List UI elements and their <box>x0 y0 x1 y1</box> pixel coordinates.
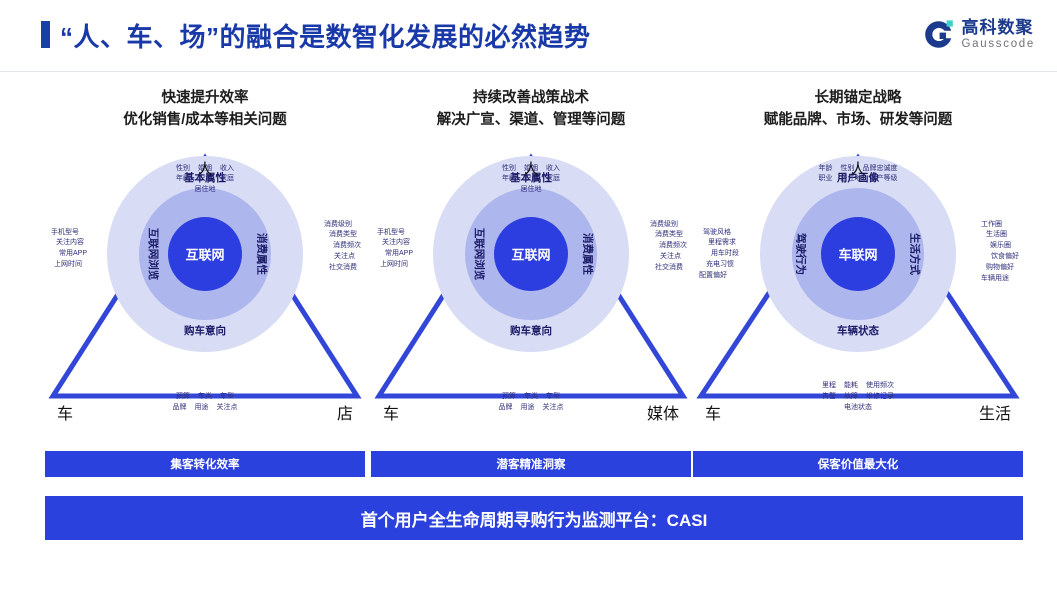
satellite-row: 预算 车类 车型 <box>499 392 564 403</box>
satellite-label: 家庭 <box>546 174 560 185</box>
satellite-row: 预算 车类 车型 <box>173 392 238 403</box>
corner-label-right: 媒体 <box>647 400 679 424</box>
satellite-label: 消费级别 <box>324 220 361 231</box>
satellite-group-right: 消费级别 消费类型 消费频次 关注点 社交消费 <box>324 220 361 274</box>
column-3-triangle-diagram: 人 车 生活 车联网 用户画像 车辆状态 驾驶行为 生活方式 年龄 性别 <box>693 142 1023 428</box>
satellite-label: 品牌忠诚度 <box>863 164 898 175</box>
satellite-label: 消费类型 <box>329 230 361 241</box>
ring-label-right: 生活方式 <box>908 233 923 275</box>
ring-label-right: 消费属性 <box>255 233 270 275</box>
satellite-group-left: 手机型号 关注内容 常用APP 上网时间 <box>51 228 87 271</box>
satellite-row: 里程 能耗 使用频次 <box>822 381 894 392</box>
column-2-heading: 持续改善战策战术 解决广宣、渠道、管理等问题 <box>371 88 691 132</box>
column-1-heading: 快速提升效率 优化销售/成本等相关问题 <box>45 88 365 132</box>
satellite-row: 告警 故障 维修记录 <box>822 392 894 403</box>
satellite-label: 常用APP <box>51 249 87 260</box>
satellite-label: 职业 <box>819 174 833 185</box>
satellite-label: 关注点 <box>334 252 361 263</box>
satellite-label: 社交消费 <box>329 263 361 274</box>
satellite-label: 生活圈 <box>986 230 1019 241</box>
satellite-label: 预算 <box>176 392 190 403</box>
outcome-bar-2: 潜客精准洞察 <box>371 451 691 477</box>
satellite-label: 居住地 <box>195 185 216 196</box>
satellite-label: 资产等级 <box>870 174 898 185</box>
satellite-label: 消费类型 <box>655 230 687 241</box>
header-divider <box>0 71 1057 72</box>
column-1: 快速提升效率 优化销售/成本等相关问题 人 车 店 互联网 基本属性 购车意向 … <box>45 88 365 428</box>
satellite-label: 驾驶风格 <box>699 228 731 239</box>
ring-core-label: 互联网 <box>511 244 550 263</box>
satellite-label: 消费级别 <box>650 220 687 231</box>
satellite-label: 消费频次 <box>659 241 687 252</box>
apex-label: 人 <box>523 158 538 179</box>
satellite-group-bottom: 预算 车类 车型 品牌 用途 关注点 <box>173 392 238 414</box>
satellite-group-left: 驾驶风格 里程需求 用车时段 充电习惯 配置偏好 <box>699 228 739 282</box>
logo-text-cn: 高科数聚 <box>962 19 1035 36</box>
satellite-group-right: 消费级别 消费类型 消费频次 关注点 社交消费 <box>650 220 687 274</box>
satellite-label: 关注点 <box>543 403 564 414</box>
satellite-label: 维修记录 <box>866 392 894 403</box>
satellite-label: 手机型号 <box>51 228 79 239</box>
ring-label-right: 消费属性 <box>581 233 596 275</box>
corner-label-left: 车 <box>705 400 721 424</box>
satellite-label: 购物偏好 <box>986 263 1019 274</box>
ring-label-bottom: 车辆状态 <box>837 323 879 338</box>
satellite-label: 故障 <box>844 392 858 403</box>
ring-core-label: 互联网 <box>185 244 224 263</box>
satellite-label: 工作圈 <box>981 220 1019 231</box>
satellite-label: 车类 <box>524 392 538 403</box>
satellite-label: 品牌 <box>499 403 513 414</box>
gausscode-g-logo-icon <box>922 18 955 51</box>
ring-label-bottom: 购车意向 <box>510 323 552 338</box>
heading-line-2: 赋能品牌、市场、研发等问题 <box>693 110 1023 132</box>
satellite-row: 居住地 <box>502 185 560 196</box>
satellite-row: 品牌 用途 关注点 <box>173 403 238 414</box>
satellite-label: 配置偏好 <box>699 271 727 282</box>
satellite-label: 年龄 <box>176 174 190 185</box>
satellite-label: 消费频次 <box>333 241 361 252</box>
satellite-row: 电池状态 <box>822 403 894 414</box>
satellite-label: 使用频次 <box>866 381 894 392</box>
satellite-label: 车类 <box>198 392 212 403</box>
satellite-label: 家庭 <box>220 174 234 185</box>
title-bullet-icon <box>41 21 50 48</box>
brand-logo: 高科数聚 Gausscode <box>922 18 1035 51</box>
logo-text-en: Gausscode <box>962 39 1035 51</box>
column-2: 持续改善战策战术 解决广宣、渠道、管理等问题 人 车 媒体 互联网 基本属性 购… <box>371 88 691 428</box>
satellite-label: 车型 <box>220 392 234 403</box>
ring-core-label: 车联网 <box>838 244 877 263</box>
satellite-label: 上网时间 <box>377 260 408 271</box>
satellite-label: 常用APP <box>377 249 413 260</box>
heading-line-2: 解决广宣、渠道、管理等问题 <box>371 110 691 132</box>
heading-line-1: 快速提升效率 <box>45 88 365 110</box>
satellite-label: 车型 <box>546 392 560 403</box>
corner-label-left: 车 <box>57 400 73 424</box>
heading-line-1: 持续改善战策战术 <box>371 88 691 110</box>
satellite-label: 品牌 <box>173 403 187 414</box>
satellite-label: 居住地 <box>521 185 542 196</box>
satellite-label: 上网时间 <box>51 260 82 271</box>
corner-label-left: 车 <box>383 400 399 424</box>
platform-footer-bar: 首个用户全生命周期寻购行为监测平台：CASI <box>45 496 1023 540</box>
satellite-label: 社交消费 <box>655 263 687 274</box>
satellite-group-right: 工作圈 生活圈 娱乐圈 饮食偏好 购物偏好 车辆用途 <box>981 220 1019 285</box>
ring-label-bottom: 购车意向 <box>184 323 226 338</box>
heading-line-1: 长期锚定战略 <box>693 88 1023 110</box>
satellite-label: 娱乐圈 <box>990 241 1019 252</box>
slide-header: “人、车、场”的融合是数智化发展的必然趋势 高科数聚 Gausscode <box>0 0 1057 72</box>
satellite-label: 性别 <box>502 164 516 175</box>
satellite-label: 里程 <box>822 381 836 392</box>
corner-label-right: 生活 <box>979 400 1011 424</box>
corner-label-right: 店 <box>337 400 353 424</box>
satellite-label: 年龄 <box>819 164 833 175</box>
satellite-label: 用车时段 <box>699 249 739 260</box>
satellite-label: 收入 <box>546 164 560 175</box>
satellite-group-bottom: 里程 能耗 使用频次 告警 故障 维修记录 电池状态 <box>822 381 894 414</box>
satellite-label: 车辆用途 <box>981 274 1019 285</box>
outcome-bar-1: 集客转化效率 <box>45 451 365 477</box>
outcome-bar-3: 保客价值最大化 <box>693 451 1023 477</box>
column-1-triangle-diagram: 人 车 店 互联网 基本属性 购车意向 互联网浏览 消费属性 性别 婚姻 <box>45 142 365 428</box>
ring-label-left: 互联网浏览 <box>146 227 161 280</box>
satellite-label: 能耗 <box>844 381 858 392</box>
satellite-label: 关注内容 <box>377 238 410 249</box>
satellite-label: 性别 <box>176 164 190 175</box>
satellite-group-left: 手机型号 关注内容 常用APP 上网时间 <box>377 228 413 271</box>
satellite-label: 充电习惯 <box>699 260 734 271</box>
satellite-label: 关注点 <box>660 252 687 263</box>
satellite-label: 年龄 <box>502 174 516 185</box>
satellite-label: 告警 <box>822 392 836 403</box>
heading-line-2: 优化销售/成本等相关问题 <box>45 110 365 132</box>
column-3: 长期锚定战略 赋能品牌、市场、研发等问题 人 车 生活 车联网 用户画像 车辆状… <box>693 88 1023 428</box>
satellite-label: 用途 <box>195 403 209 414</box>
apex-label: 人 <box>197 158 212 179</box>
satellite-label: 用途 <box>521 403 535 414</box>
satellite-label: 关注内容 <box>51 238 84 249</box>
column-3-heading: 长期锚定战略 赋能品牌、市场、研发等问题 <box>693 88 1023 132</box>
column-2-triangle-diagram: 人 车 媒体 互联网 基本属性 购车意向 互联网浏览 消费属性 性别 婚姻 <box>371 142 691 428</box>
satellite-label: 关注点 <box>217 403 238 414</box>
apex-label: 人 <box>850 158 865 179</box>
slide-canvas: “人、车、场”的融合是数智化发展的必然趋势 高科数聚 Gausscode 快速提… <box>0 0 1057 589</box>
ring-label-left: 互联网浏览 <box>472 227 487 280</box>
satellite-row: 居住地 <box>176 185 234 196</box>
satellite-label: 饮食偏好 <box>991 252 1019 263</box>
satellite-row: 品牌 用途 关注点 <box>499 403 564 414</box>
satellite-label: 收入 <box>220 164 234 175</box>
page-title: “人、车、场”的融合是数智化发展的必然趋势 <box>60 17 591 54</box>
satellite-label: 预算 <box>502 392 516 403</box>
satellite-label: 里程需求 <box>699 238 736 249</box>
satellite-label: 手机型号 <box>377 228 405 239</box>
satellite-label: 电池状态 <box>844 403 872 414</box>
satellite-group-bottom: 预算 车类 车型 品牌 用途 关注点 <box>499 392 564 414</box>
ring-label-left: 驾驶行为 <box>794 233 809 275</box>
